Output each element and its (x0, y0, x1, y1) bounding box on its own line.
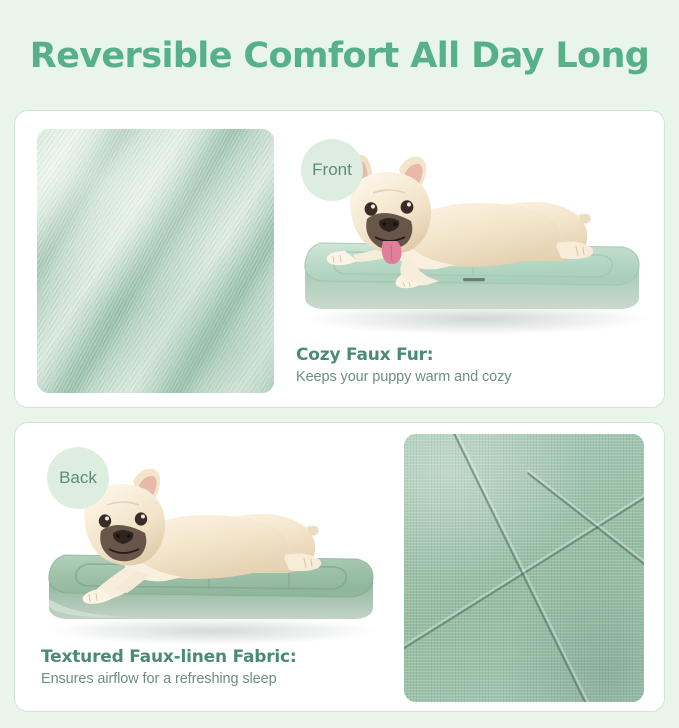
page-title: Reversible Comfort All Day Long (0, 36, 679, 76)
fur-texture-sheen (37, 129, 274, 393)
fabric-swatch-photo-faux-fur (37, 129, 274, 393)
caption-front: Cozy Faux Fur: Keeps your puppy warm and… (296, 345, 511, 385)
caption-body-back: Ensures airflow for a refreshing sleep (41, 671, 297, 687)
caption-heading-front: Cozy Faux Fur: (296, 345, 511, 365)
feature-card-front: Front Cozy Faux Fur: Keeps your puppy wa… (14, 110, 665, 408)
fabric-swatch-photo-faux-linen (404, 434, 644, 702)
badge-back: Back (47, 447, 109, 509)
caption-heading-back: Textured Faux-linen Fabric: (41, 647, 297, 667)
caption-back: Textured Faux-linen Fabric: Ensures airf… (41, 647, 297, 687)
badge-front: Front (301, 139, 363, 201)
caption-body-front: Keeps your puppy warm and cozy (296, 369, 511, 385)
feature-card-back: Back Textured Faux-linen Fabric: Ensures… (14, 422, 665, 712)
